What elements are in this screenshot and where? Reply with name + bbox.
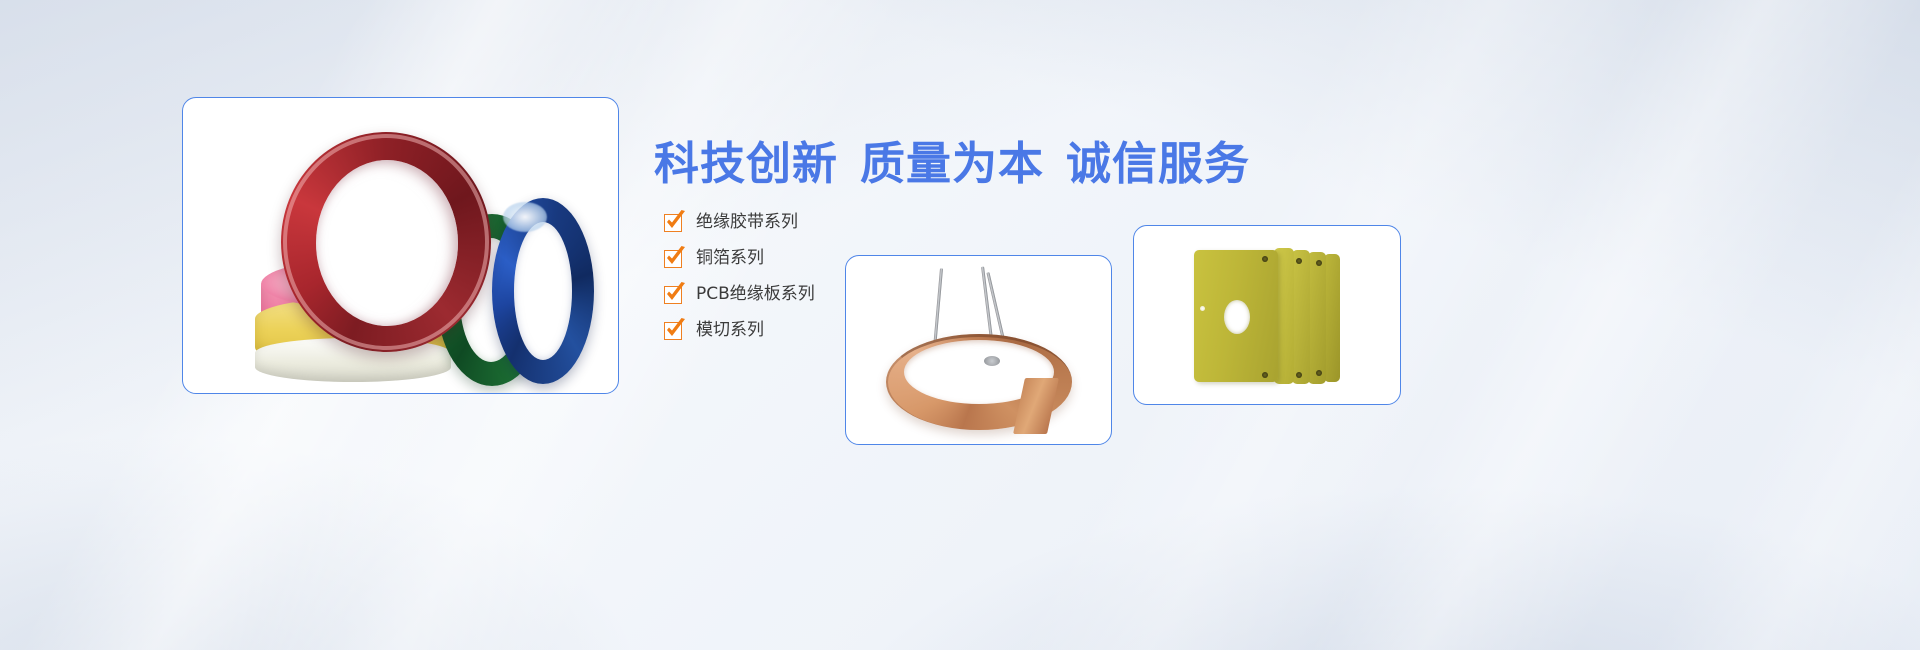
pcb-board (1324, 254, 1340, 382)
pcb-board-pin (1316, 370, 1322, 376)
pcb-board-pin (1262, 256, 1268, 262)
headline-segment-3: 诚信服务 (1066, 137, 1250, 190)
pcb-board-small-hole (1200, 306, 1205, 311)
pcb-board-pin (1316, 260, 1322, 266)
list-item-label: 铜箔系列 (696, 250, 764, 267)
pcb-board (1292, 250, 1310, 384)
pcb-board-pin (1296, 258, 1302, 264)
product-category-list: 绝缘胶带系列 铜箔系列 PCB绝缘板系列 (664, 205, 815, 349)
check-icon (664, 322, 682, 340)
pcb-board-pin (1262, 372, 1268, 378)
pcb-board (1308, 252, 1326, 384)
product-card-pcb-boards[interactable] (1133, 225, 1401, 405)
copper-foil-coil-image (846, 256, 1111, 444)
check-icon (664, 214, 682, 232)
insulation-tape-rolls-image (183, 98, 618, 393)
tape-roll-red-rim (283, 134, 489, 350)
pcb-board-pin (1296, 372, 1302, 378)
tape-roll-blue-core (514, 222, 572, 360)
coil-solder-joint (984, 356, 1000, 366)
product-card-insulation-tape[interactable] (182, 97, 619, 394)
headline-segment-2: 质量为本 (860, 137, 1044, 190)
check-icon (664, 286, 682, 304)
list-item[interactable]: 绝缘胶带系列 (664, 205, 815, 240)
list-item-label: PCB绝缘板系列 (696, 286, 815, 303)
list-item-label: 绝缘胶带系列 (696, 214, 798, 231)
hero-banner: 科技创新质量为本诚信服务 绝缘胶带系列 铜箔系列 (0, 0, 1920, 650)
list-item-label: 模切系列 (696, 322, 764, 339)
product-card-copper-foil[interactable] (845, 255, 1112, 445)
headline-segment-1: 科技创新 (654, 137, 838, 190)
pcb-board-cutout (1224, 300, 1250, 334)
pcb-insulation-boards-image (1134, 226, 1400, 404)
list-item[interactable]: PCB绝缘板系列 (664, 277, 815, 312)
list-item[interactable]: 模切系列 (664, 313, 815, 348)
list-item[interactable]: 铜箔系列 (664, 241, 815, 276)
tape-roll-blue-label (503, 202, 547, 232)
banner-headline: 科技创新质量为本诚信服务 (654, 127, 1250, 192)
check-icon (664, 250, 682, 268)
